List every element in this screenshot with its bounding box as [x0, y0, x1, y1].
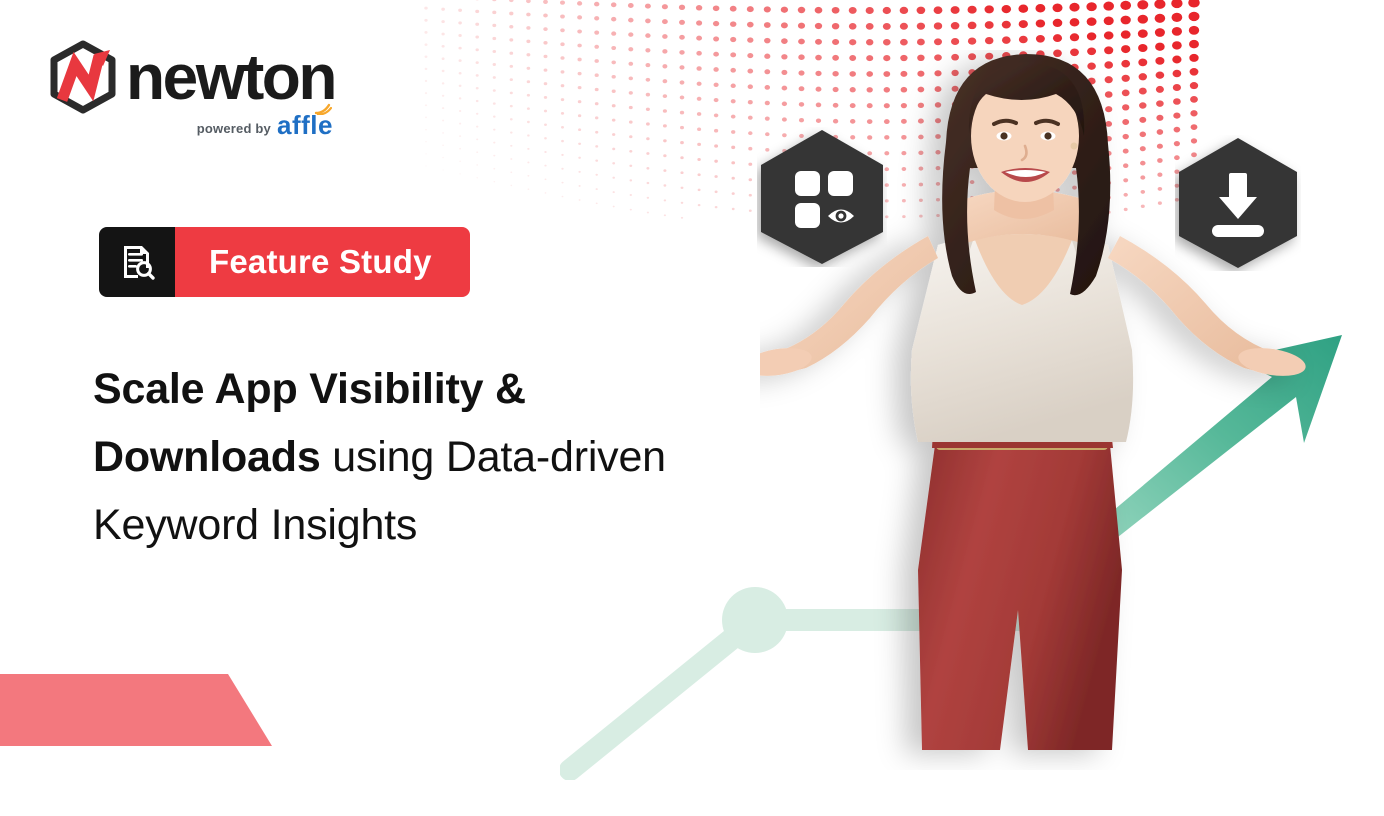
feature-study-badge[interactable]: Feature Study: [99, 227, 470, 297]
trousers: [918, 445, 1122, 750]
newton-logo[interactable]: newton powered by affle: [44, 38, 335, 139]
document-search-icon: [118, 243, 156, 281]
headline-bold-1: Scale App Visibility &: [93, 365, 526, 413]
headline-line-3: Keyword Insights: [93, 491, 783, 559]
badge-text-box: Feature Study: [175, 227, 470, 297]
affle-lockup: affle: [277, 112, 333, 139]
headline-line-1: Scale App Visibility &: [93, 355, 783, 423]
page-title: Scale App Visibility & Downloads using D…: [93, 355, 783, 559]
headline-bold-2: Downloads: [93, 433, 321, 481]
headline-line-2: Downloads using Data-driven: [93, 423, 783, 491]
app-visibility-hexagon[interactable]: [757, 127, 887, 267]
feature-study-banner: newton powered by affle: [0, 0, 1384, 816]
newton-hexagon-arrow-logo: [44, 38, 122, 116]
badge-icon-box: [99, 227, 175, 297]
headline-light-2: using Data-driven: [321, 433, 666, 481]
headline-light-3: Keyword Insights: [93, 501, 417, 549]
badge-label: Feature Study: [209, 243, 432, 281]
powered-by-affle: powered by affle: [197, 112, 335, 139]
downloads-hexagon[interactable]: [1175, 135, 1301, 271]
newton-wordmark: newton: [126, 45, 335, 109]
powered-by-label: powered by: [197, 121, 271, 139]
wifi-arc-icon: [314, 102, 332, 115]
logo-row: newton: [44, 38, 335, 116]
bottom-left-accent-band: [0, 674, 272, 746]
